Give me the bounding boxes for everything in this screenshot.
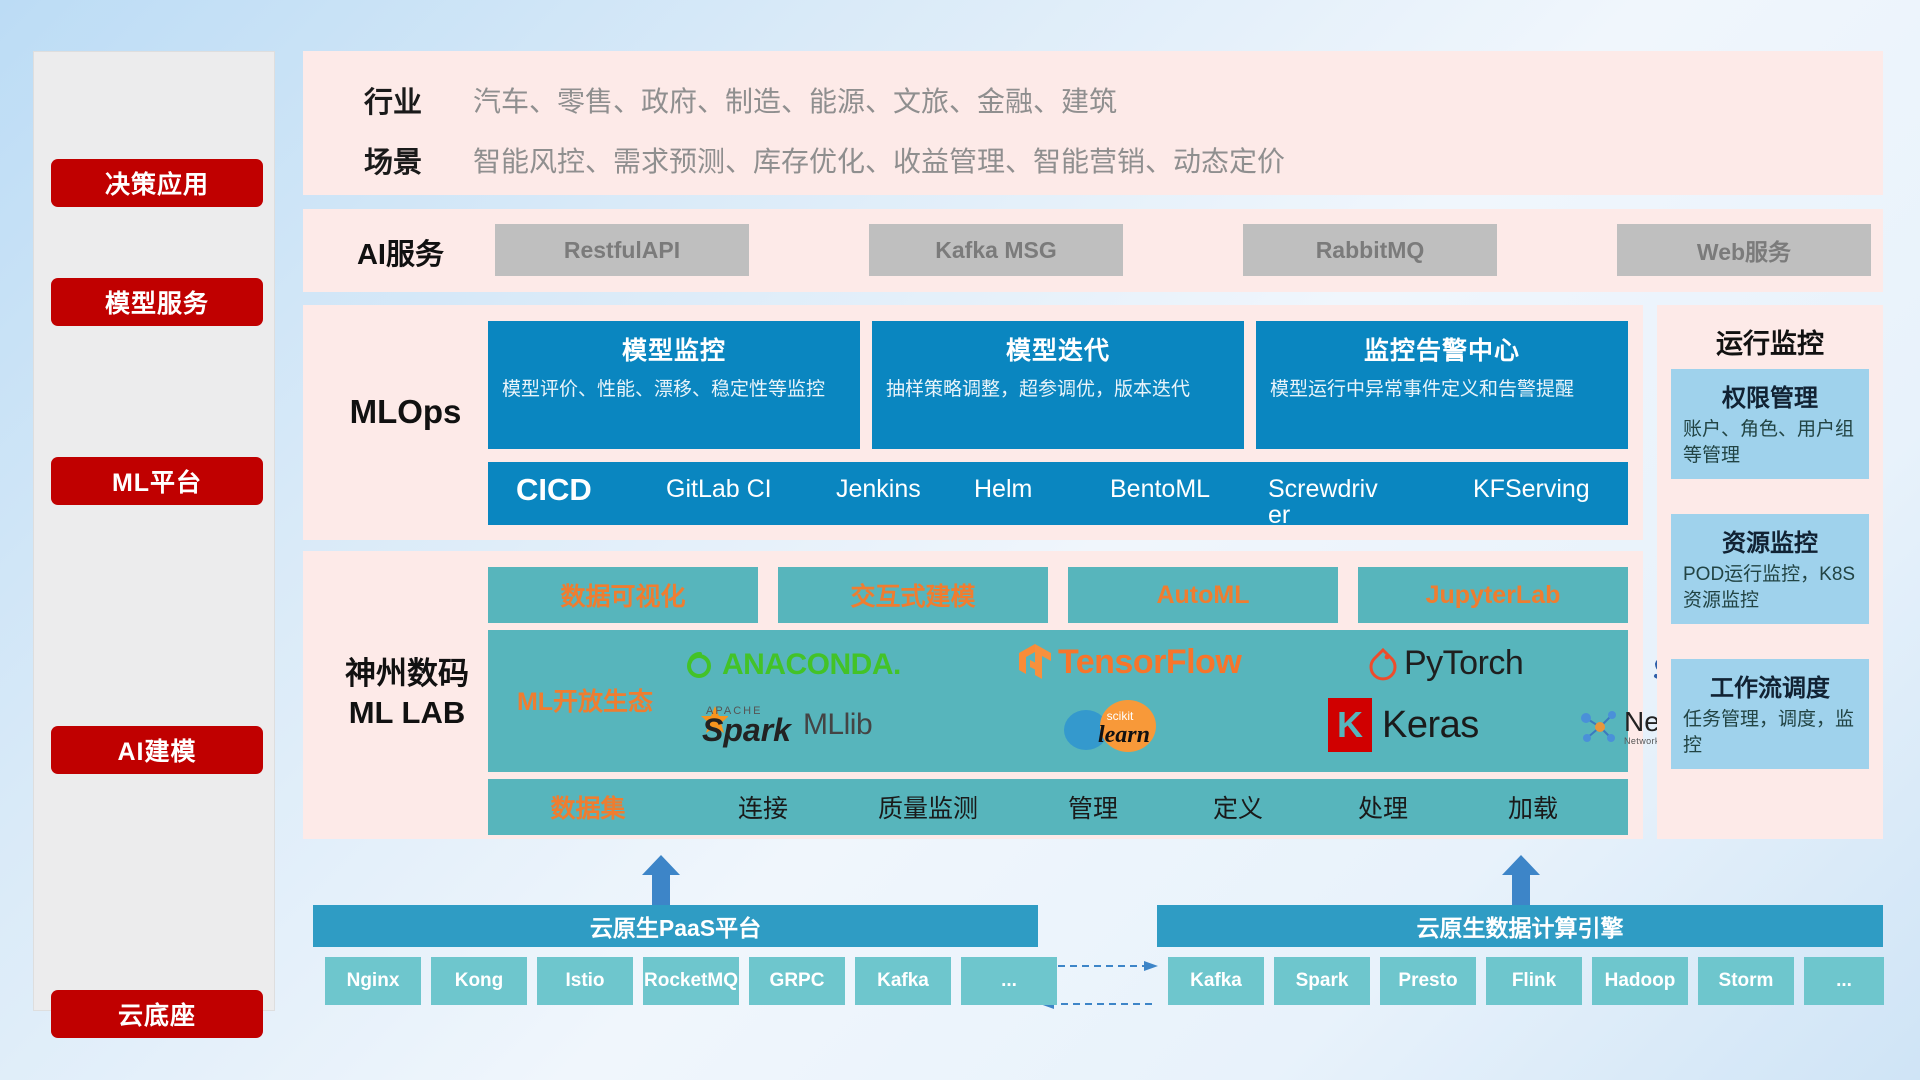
rail-item-label: 模型服务 [105, 284, 209, 320]
mlops-card-model-iteration[interactable]: 模型迭代 抽样策略调整，超参调优，版本迭代 [872, 321, 1244, 449]
tag-kong[interactable]: Kong [431, 957, 527, 1005]
diagram-canvas: 决策应用 模型服务 ML平台 AI建模 云底座 行业 汽车、零售、政府、制造、能… [0, 0, 1920, 1080]
ml-lab-band: 神州数码 ML LAB 数据可视化 交互式建模 AutoML JupyterLa… [303, 551, 1643, 839]
mlops-card-model-monitoring[interactable]: 模型监控 模型评价、性能、漂移、稳定性等监控 [488, 321, 860, 449]
dataset-item-quality-monitor[interactable]: 质量监测 [838, 789, 1018, 825]
tag-more-left[interactable]: ... [961, 957, 1057, 1005]
tensorflow-mark-icon [1018, 642, 1052, 682]
scenario-row: 场景 智能风控、需求预测、库存优化、收益管理、智能营销、动态定价 [333, 139, 1285, 181]
dataset-item-connect[interactable]: 连接 [688, 789, 838, 825]
tag-presto[interactable]: Presto [1380, 957, 1476, 1005]
tag-more-right[interactable]: ... [1804, 957, 1884, 1005]
dataset-item-dataset[interactable]: 数据集 [488, 789, 688, 825]
tag-kafka-right[interactable]: Kafka [1168, 957, 1264, 1005]
pytorch-wordmark: PyTorch [1404, 644, 1523, 683]
rail-item-cloud-base[interactable]: 云底座 [51, 990, 263, 1038]
arrow-up-data-engine-icon [1500, 855, 1542, 897]
cloud-paas-label: 云原生PaaS平台 [590, 909, 761, 943]
ai-service-band: AI服务 RestfulAPI Kafka MSG RabbitMQ Web服务 [303, 209, 1883, 292]
rail-item-ml-platform[interactable]: ML平台 [51, 457, 263, 505]
spark-mllib-logo: APACHE Spark MLlib [688, 704, 872, 746]
tensorflow-logo: TensorFlow [1018, 642, 1241, 682]
tag-grpc[interactable]: GRPC [749, 957, 845, 1005]
service-label: Kafka MSG [935, 237, 1056, 264]
ml-lab-label: 神州数码 ML LAB [317, 655, 497, 733]
scenario-label: 场景 [333, 139, 453, 181]
industry-scenario-band: 行业 汽车、零售、政府、制造、能源、文旅、金融、建筑 场景 智能风控、需求预测、… [303, 51, 1883, 195]
monitor-card-resource[interactable]: 资源监控 POD运行监控，K8S资源监控 [1671, 514, 1869, 624]
card-title: 模型迭代 [886, 331, 1230, 367]
spark-wordmark: Spark [702, 717, 791, 744]
tab-jupyterlab[interactable]: JupyterLab [1358, 567, 1628, 623]
service-label: Web服务 [1697, 233, 1791, 267]
pytorch-mark-icon [1368, 647, 1398, 681]
tag-flink[interactable]: Flink [1486, 957, 1582, 1005]
tag-kafka-left[interactable]: Kafka [855, 957, 951, 1005]
keras-wordmark: Keras [1382, 704, 1479, 747]
dataset-item-manage[interactable]: 管理 [1018, 789, 1168, 825]
bidirectional-dashed-arrows [1040, 950, 1160, 1020]
runtime-monitor-panel: 运行监控 权限管理 账户、角色、用户组等管理 资源监控 POD运行监控，K8S资… [1657, 305, 1883, 839]
tab-data-visualization[interactable]: 数据可视化 [488, 567, 758, 623]
cloud-data-engine-label: 云原生数据计算引擎 [1417, 909, 1624, 943]
scenario-text: 智能风控、需求预测、库存优化、收益管理、智能营销、动态定价 [473, 140, 1285, 180]
cicd-item-screwdriver[interactable]: Screwdriver [1268, 476, 1386, 529]
rail-item-label: 云底座 [118, 996, 196, 1032]
dataset-item-process[interactable]: 处理 [1308, 789, 1458, 825]
ml-ecosystem-panel: ML开放生态 ANACONDA. TensorFlow [488, 630, 1628, 772]
tag-spark[interactable]: Spark [1274, 957, 1370, 1005]
ml-ecosystem-label: ML开放生态 [510, 682, 660, 718]
card-title: 监控告警中心 [1270, 331, 1614, 367]
cicd-title: CICD [516, 472, 592, 508]
card-title: 模型监控 [502, 331, 846, 367]
anaconda-logo: ANACONDA. [684, 648, 901, 682]
pytorch-logo: PyTorch [1368, 644, 1523, 683]
tab-interactive-modeling[interactable]: 交互式建模 [778, 567, 1048, 623]
runtime-monitor-title: 运行监控 [1657, 322, 1883, 361]
mllib-wordmark: MLlib [803, 708, 872, 742]
rail-item-model-service[interactable]: 模型服务 [51, 278, 263, 326]
dataset-row: 数据集 连接 质量监测 管理 定义 处理 加载 [488, 779, 1628, 835]
anaconda-wordmark: ANACONDA. [722, 648, 901, 682]
card-desc: 模型运行中异常事件定义和告警提醒 [1270, 377, 1614, 403]
industry-row: 行业 汽车、零售、政府、制造、能源、文旅、金融、建筑 [333, 79, 1117, 121]
card-title: 工作流调度 [1671, 659, 1869, 707]
rail-item-ai-modeling[interactable]: AI建模 [51, 726, 263, 774]
mlops-label: MLOps [323, 393, 488, 431]
service-web[interactable]: Web服务 [1617, 224, 1871, 276]
ml-lab-label-line1: 神州数码 [317, 655, 497, 694]
ml-lab-label-line2: ML LAB [317, 694, 497, 733]
rail-item-label: AI建模 [117, 732, 196, 768]
keras-mark-letter: K [1337, 704, 1363, 746]
cicd-item-helm[interactable]: Helm [974, 476, 1092, 502]
anaconda-mark-icon [684, 650, 714, 680]
card-desc: 抽样策略调整，超参调优，版本迭代 [886, 377, 1230, 403]
keras-mark-icon: K [1328, 698, 1372, 752]
service-rabbitmq[interactable]: RabbitMQ [1243, 224, 1497, 276]
cicd-item-jenkins[interactable]: Jenkins [836, 476, 954, 502]
cicd-item-gitlab-ci[interactable]: GitLab CI [666, 476, 784, 502]
monitor-card-workflow[interactable]: 工作流调度 任务管理，调度，监控 [1671, 659, 1869, 769]
cicd-row: CICD GitLab CI Jenkins Helm BentoML Scre… [488, 462, 1628, 525]
keras-logo: K Keras [1328, 698, 1479, 752]
tensorflow-wordmark: TensorFlow [1058, 643, 1241, 682]
tag-rocketmq[interactable]: RocketMQ [643, 957, 739, 1005]
mlops-band: MLOps 模型监控 模型评价、性能、漂移、稳定性等监控 模型迭代 抽样策略调整… [303, 305, 1643, 540]
svg-text:learn: learn [1098, 722, 1150, 748]
rail-item-decision-app[interactable]: 决策应用 [51, 159, 263, 207]
cicd-item-bentoml[interactable]: BentoML [1110, 476, 1228, 502]
card-title: 资源监控 [1671, 514, 1869, 562]
ml-lab-tabs: 数据可视化 交互式建模 AutoML JupyterLab [488, 567, 1628, 623]
service-restfulapi[interactable]: RestfulAPI [495, 224, 749, 276]
dataset-item-load[interactable]: 加载 [1458, 789, 1608, 825]
card-desc: 模型评价、性能、漂移、稳定性等监控 [502, 377, 846, 403]
service-label: RabbitMQ [1316, 237, 1425, 264]
svg-text:scikit: scikit [1107, 709, 1134, 723]
card-desc: 账户、角色、用户组等管理 [1671, 417, 1869, 478]
tag-hadoop[interactable]: Hadoop [1592, 957, 1688, 1005]
networkx-mark-icon [1578, 706, 1620, 748]
arrow-up-paas-icon [640, 855, 682, 897]
service-kafka-msg[interactable]: Kafka MSG [869, 224, 1123, 276]
rail-item-label: 决策应用 [105, 165, 209, 201]
tag-nginx[interactable]: Nginx [325, 957, 421, 1005]
tag-storm[interactable]: Storm [1698, 957, 1794, 1005]
cicd-item-kfserving[interactable]: KFServing [1473, 476, 1591, 502]
industry-label: 行业 [333, 79, 453, 121]
service-label: RestfulAPI [564, 237, 680, 264]
ai-service-label: AI服务 [338, 231, 463, 273]
scikit-learn-mark-icon: scikit learn [1058, 698, 1208, 756]
tag-istio[interactable]: Istio [537, 957, 633, 1005]
tab-automl[interactable]: AutoML [1068, 567, 1338, 623]
scikit-learn-logo: scikit learn [1058, 698, 1208, 756]
card-desc: POD运行监控，K8S资源监控 [1671, 562, 1869, 623]
industry-text: 汽车、零售、政府、制造、能源、文旅、金融、建筑 [473, 80, 1117, 120]
dataset-item-define[interactable]: 定义 [1168, 789, 1308, 825]
mlops-card-alert-center[interactable]: 监控告警中心 模型运行中异常事件定义和告警提醒 [1256, 321, 1628, 449]
cloud-data-engine-bar[interactable]: 云原生数据计算引擎 [1157, 905, 1883, 947]
monitor-card-permission[interactable]: 权限管理 账户、角色、用户组等管理 [1671, 369, 1869, 479]
card-title: 权限管理 [1671, 369, 1869, 417]
rail-item-label: ML平台 [112, 463, 202, 499]
cloud-paas-bar[interactable]: 云原生PaaS平台 [313, 905, 1038, 947]
card-desc: 任务管理，调度，监控 [1671, 707, 1869, 768]
left-rail: 决策应用 模型服务 ML平台 AI建模 云底座 [33, 51, 275, 1011]
